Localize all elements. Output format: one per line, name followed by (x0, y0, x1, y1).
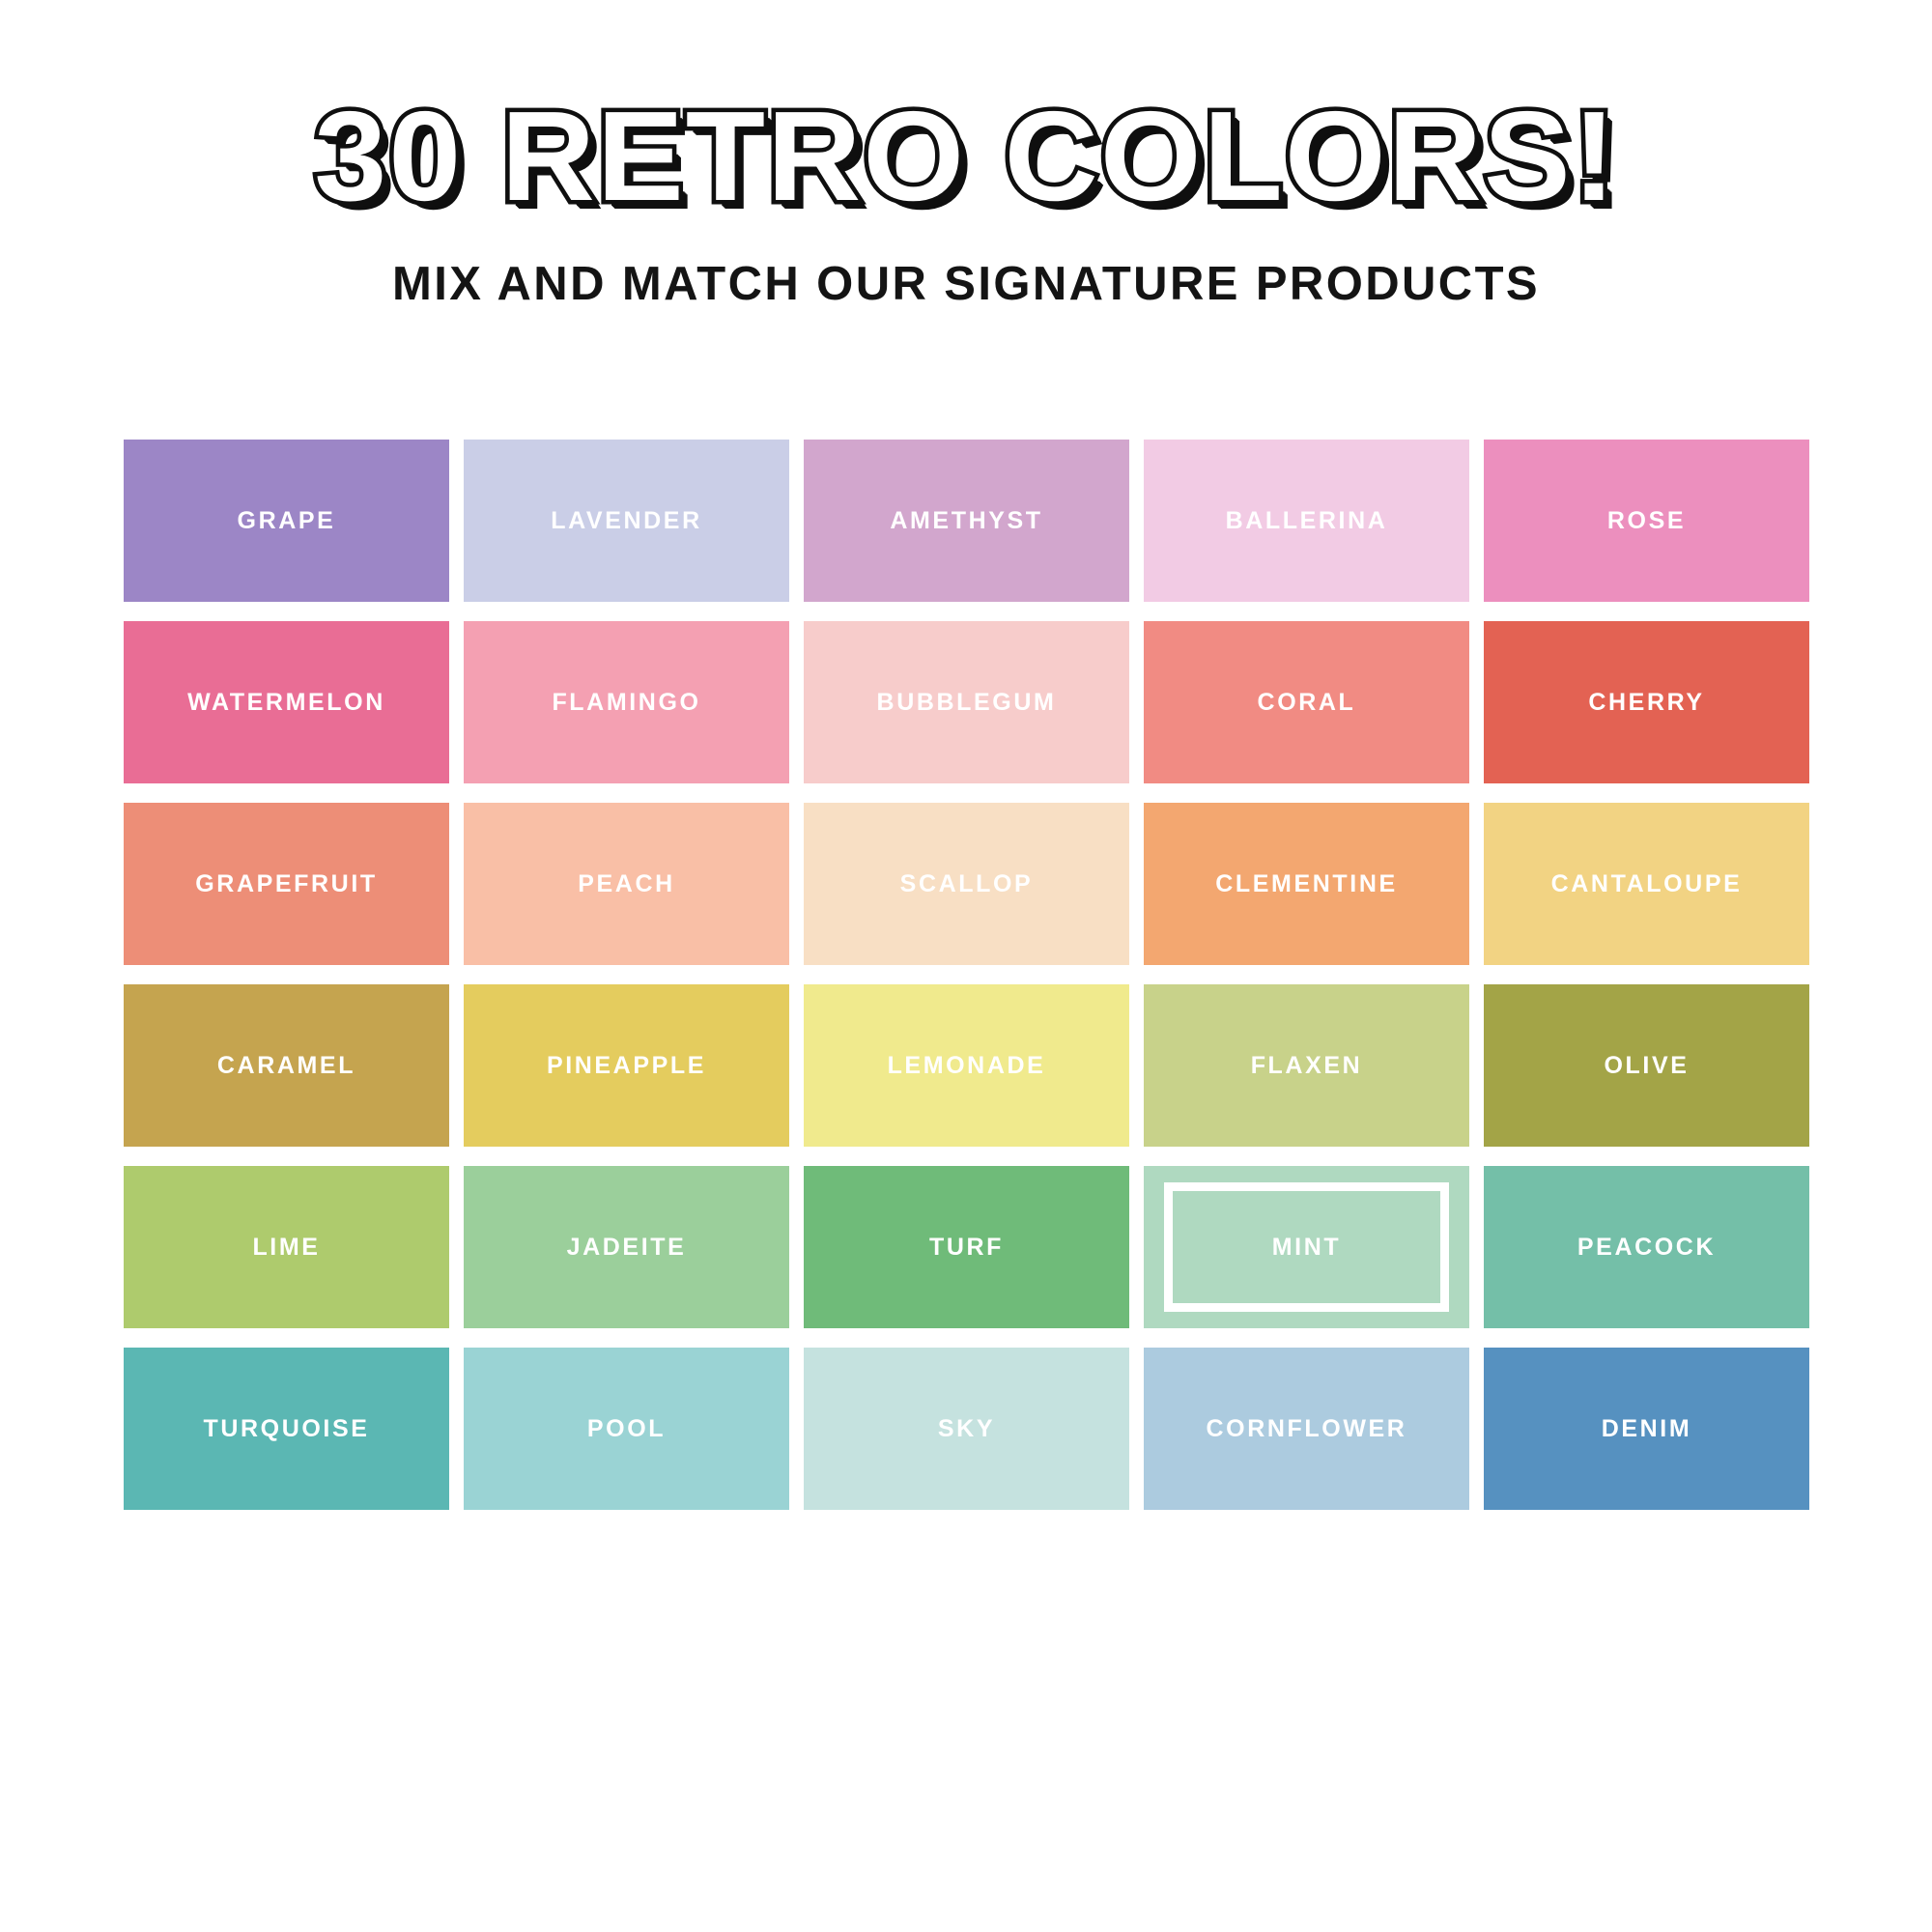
swatch-label: CLEMENTINE (1215, 870, 1398, 898)
page-header: 30 RETRO COLORS! MIX AND MATCH OUR SIGNA… (0, 0, 1932, 311)
swatch-label: BUBBLEGUM (877, 689, 1057, 717)
color-swatch-jadeite[interactable]: JADEITE (464, 1166, 789, 1328)
color-swatch-peach[interactable]: PEACH (464, 803, 789, 965)
swatch-label: SKY (938, 1415, 995, 1443)
page-subtitle: MIX AND MATCH OUR SIGNATURE PRODUCTS (0, 257, 1932, 311)
color-swatch-rose[interactable]: ROSE (1484, 440, 1809, 602)
color-swatch-cantaloupe[interactable]: CANTALOUPE (1484, 803, 1809, 965)
swatch-label: TURF (929, 1234, 1004, 1262)
color-swatch-turf[interactable]: TURF (804, 1166, 1129, 1328)
swatch-label: FLAMINGO (552, 689, 700, 717)
color-swatch-caramel[interactable]: CARAMEL (124, 984, 449, 1147)
swatch-label: CARAMEL (217, 1052, 355, 1080)
color-swatch-cornflower[interactable]: CORNFLOWER (1144, 1348, 1469, 1510)
swatch-label: LAVENDER (551, 507, 701, 535)
color-swatch-denim[interactable]: DENIM (1484, 1348, 1809, 1510)
swatch-label: OLIVE (1604, 1052, 1689, 1080)
color-swatch-coral[interactable]: CORAL (1144, 621, 1469, 783)
swatch-label: ROSE (1607, 507, 1686, 535)
swatch-label: PEACH (578, 870, 675, 898)
swatch-label: FLAXEN (1251, 1052, 1363, 1080)
swatch-label: CHERRY (1588, 689, 1704, 717)
swatch-label: AMETHYST (890, 507, 1042, 535)
color-swatch-watermelon[interactable]: WATERMELON (124, 621, 449, 783)
color-swatch-peacock[interactable]: PEACOCK (1484, 1166, 1809, 1328)
swatch-label: CORAL (1258, 689, 1356, 717)
page-title: 30 RETRO COLORS! (0, 93, 1932, 220)
color-swatch-grape[interactable]: GRAPE (124, 440, 449, 602)
color-swatch-clementine[interactable]: CLEMENTINE (1144, 803, 1469, 965)
color-swatch-flamingo[interactable]: FLAMINGO (464, 621, 789, 783)
color-swatch-pineapple[interactable]: PINEAPPLE (464, 984, 789, 1147)
swatch-label: CANTALOUPE (1551, 870, 1743, 898)
color-swatch-lavender[interactable]: LAVENDER (464, 440, 789, 602)
color-swatch-grapefruit[interactable]: GRAPEFRUIT (124, 803, 449, 965)
swatch-label: PINEAPPLE (547, 1052, 706, 1080)
swatch-label: DENIM (1602, 1415, 1692, 1443)
swatch-label: SCALLOP (900, 870, 1034, 898)
swatch-label: WATERMELON (187, 689, 385, 717)
color-swatch-pool[interactable]: POOL (464, 1348, 789, 1510)
color-swatch-bubblegum[interactable]: BUBBLEGUM (804, 621, 1129, 783)
swatch-label: BALLERINA (1226, 507, 1388, 535)
swatch-label: GRAPEFRUIT (195, 870, 378, 898)
swatch-label: TURQUOISE (203, 1415, 369, 1443)
swatch-label: LEMONADE (888, 1052, 1046, 1080)
swatch-label: PEACOCK (1577, 1234, 1716, 1262)
color-swatch-olive[interactable]: OLIVE (1484, 984, 1809, 1147)
color-swatch-lemonade[interactable]: LEMONADE (804, 984, 1129, 1147)
color-swatch-cherry[interactable]: CHERRY (1484, 621, 1809, 783)
color-swatch-ballerina[interactable]: BALLERINA (1144, 440, 1469, 602)
color-swatch-amethyst[interactable]: AMETHYST (804, 440, 1129, 602)
color-swatch-turquoise[interactable]: TURQUOISE (124, 1348, 449, 1510)
swatch-label: LIME (252, 1234, 320, 1262)
color-palette-page: 30 RETRO COLORS! MIX AND MATCH OUR SIGNA… (0, 0, 1932, 1932)
color-swatch-sky[interactable]: SKY (804, 1348, 1129, 1510)
swatch-label: GRAPE (238, 507, 336, 535)
color-swatch-mint[interactable]: MINT (1144, 1166, 1469, 1328)
swatch-grid: GRAPELAVENDERAMETHYSTBALLERINAROSEWATERM… (124, 440, 1809, 1529)
color-swatch-flaxen[interactable]: FLAXEN (1144, 984, 1469, 1147)
color-swatch-scallop[interactable]: SCALLOP (804, 803, 1129, 965)
swatch-label: POOL (587, 1415, 666, 1443)
color-swatch-lime[interactable]: LIME (124, 1166, 449, 1328)
swatch-label: JADEITE (567, 1234, 687, 1262)
swatch-label: CORNFLOWER (1207, 1415, 1407, 1443)
swatch-label: MINT (1272, 1234, 1342, 1262)
